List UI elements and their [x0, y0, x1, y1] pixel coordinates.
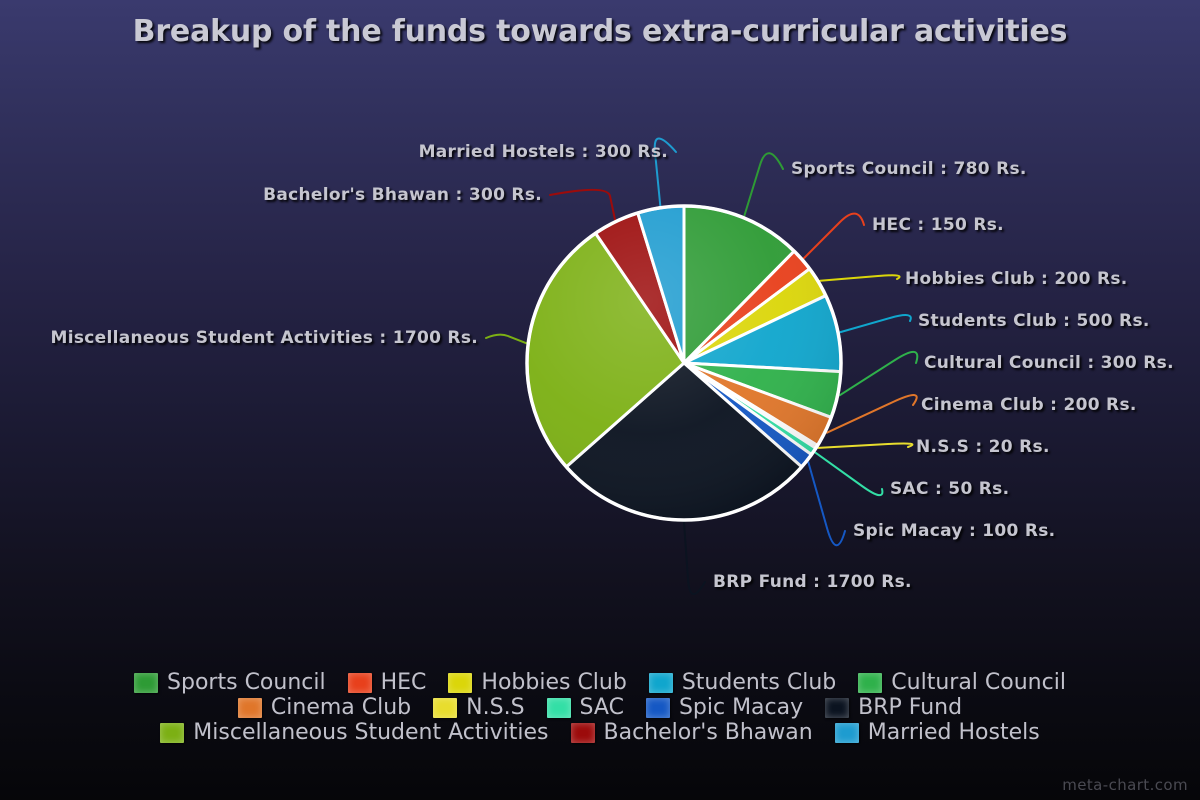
slice-label: N.S.S : 20 Rs. [916, 437, 1050, 457]
leader-line [815, 453, 882, 496]
legend-swatch-icon [448, 673, 472, 693]
legend: Sports CouncilHECHobbies ClubStudents Cl… [0, 672, 1200, 744]
legend-swatch-icon [348, 673, 372, 693]
legend-item[interactable]: Miscellaneous Student Activities [160, 722, 548, 744]
legend-item[interactable]: Hobbies Club [448, 672, 626, 694]
legend-swatch-icon [160, 723, 184, 743]
legend-item[interactable]: Cinema Club [238, 697, 411, 719]
leader-line [744, 153, 783, 216]
slice-label: Hobbies Club : 200 Rs. [905, 269, 1128, 289]
legend-label: Cultural Council [891, 672, 1066, 694]
watermark: meta-chart.com [1062, 776, 1188, 794]
legend-item[interactable]: Bachelor's Bhawan [571, 722, 813, 744]
legend-label: Miscellaneous Student Activities [193, 722, 548, 744]
leader-line [840, 315, 911, 332]
legend-item[interactable]: SAC [547, 697, 624, 719]
slice-label: Sports Council : 780 Rs. [791, 159, 1027, 179]
legend-label: SAC [580, 697, 624, 719]
legend-swatch-icon [238, 698, 262, 718]
slice-label: Cultural Council : 300 Rs. [924, 353, 1174, 373]
legend-row: Miscellaneous Student ActivitiesBachelor… [160, 722, 1039, 744]
slice-label: Miscellaneous Student Activities : 1700 … [0, 328, 478, 348]
legend-swatch-icon [825, 698, 849, 718]
legend-label: Bachelor's Bhawan [604, 722, 813, 744]
legend-row: Cinema ClubN.S.SSACSpic MacayBRP Fund [238, 697, 962, 719]
legend-item[interactable]: Sports Council [134, 672, 326, 694]
leader-line [808, 462, 845, 545]
slice-label: Married Hostels : 300 Rs. [0, 142, 668, 162]
legend-item[interactable]: Married Hostels [835, 722, 1040, 744]
leader-line [827, 395, 917, 433]
slice-label: BRP Fund : 1700 Rs. [713, 572, 912, 592]
slice-label: Students Club : 500 Rs. [918, 311, 1150, 331]
leader-line [486, 335, 526, 344]
legend-item[interactable]: N.S.S [433, 697, 524, 719]
slice-label: Bachelor's Bhawan : 300 Rs. [0, 185, 542, 205]
legend-swatch-icon [433, 698, 457, 718]
legend-label: HEC [381, 672, 427, 694]
legend-item[interactable]: Students Club [649, 672, 836, 694]
chart-canvas: Breakup of the funds towards extra-curri… [0, 0, 1200, 800]
legend-swatch-icon [571, 723, 595, 743]
legend-swatch-icon [646, 698, 670, 718]
legend-label: Married Hostels [868, 722, 1040, 744]
legend-swatch-icon [547, 698, 571, 718]
legend-label: Cinema Club [271, 697, 411, 719]
leader-line [820, 275, 899, 281]
legend-item[interactable]: BRP Fund [825, 697, 962, 719]
slice-label: Cinema Club : 200 Rs. [921, 395, 1137, 415]
legend-swatch-icon [649, 673, 673, 693]
legend-label: Hobbies Club [481, 672, 626, 694]
leader-line [684, 522, 705, 594]
legend-swatch-icon [835, 723, 859, 743]
legend-item[interactable]: Spic Macay [646, 697, 803, 719]
slice-label: HEC : 150 Rs. [872, 215, 1004, 235]
leader-line [840, 352, 918, 395]
legend-item[interactable]: Cultural Council [858, 672, 1066, 694]
leader-line [804, 214, 864, 259]
legend-label: N.S.S [466, 697, 524, 719]
legend-item[interactable]: HEC [348, 672, 427, 694]
legend-swatch-icon [858, 673, 882, 693]
slice-label: SAC : 50 Rs. [890, 479, 1009, 499]
legend-swatch-icon [134, 673, 158, 693]
legend-label: BRP Fund [858, 697, 962, 719]
leader-line [550, 190, 615, 220]
slice-label: Spic Macay : 100 Rs. [853, 521, 1055, 541]
leader-line [818, 443, 912, 447]
legend-label: Students Club [682, 672, 836, 694]
legend-row: Sports CouncilHECHobbies ClubStudents Cl… [134, 672, 1066, 694]
legend-label: Spic Macay [679, 697, 803, 719]
legend-label: Sports Council [167, 672, 326, 694]
